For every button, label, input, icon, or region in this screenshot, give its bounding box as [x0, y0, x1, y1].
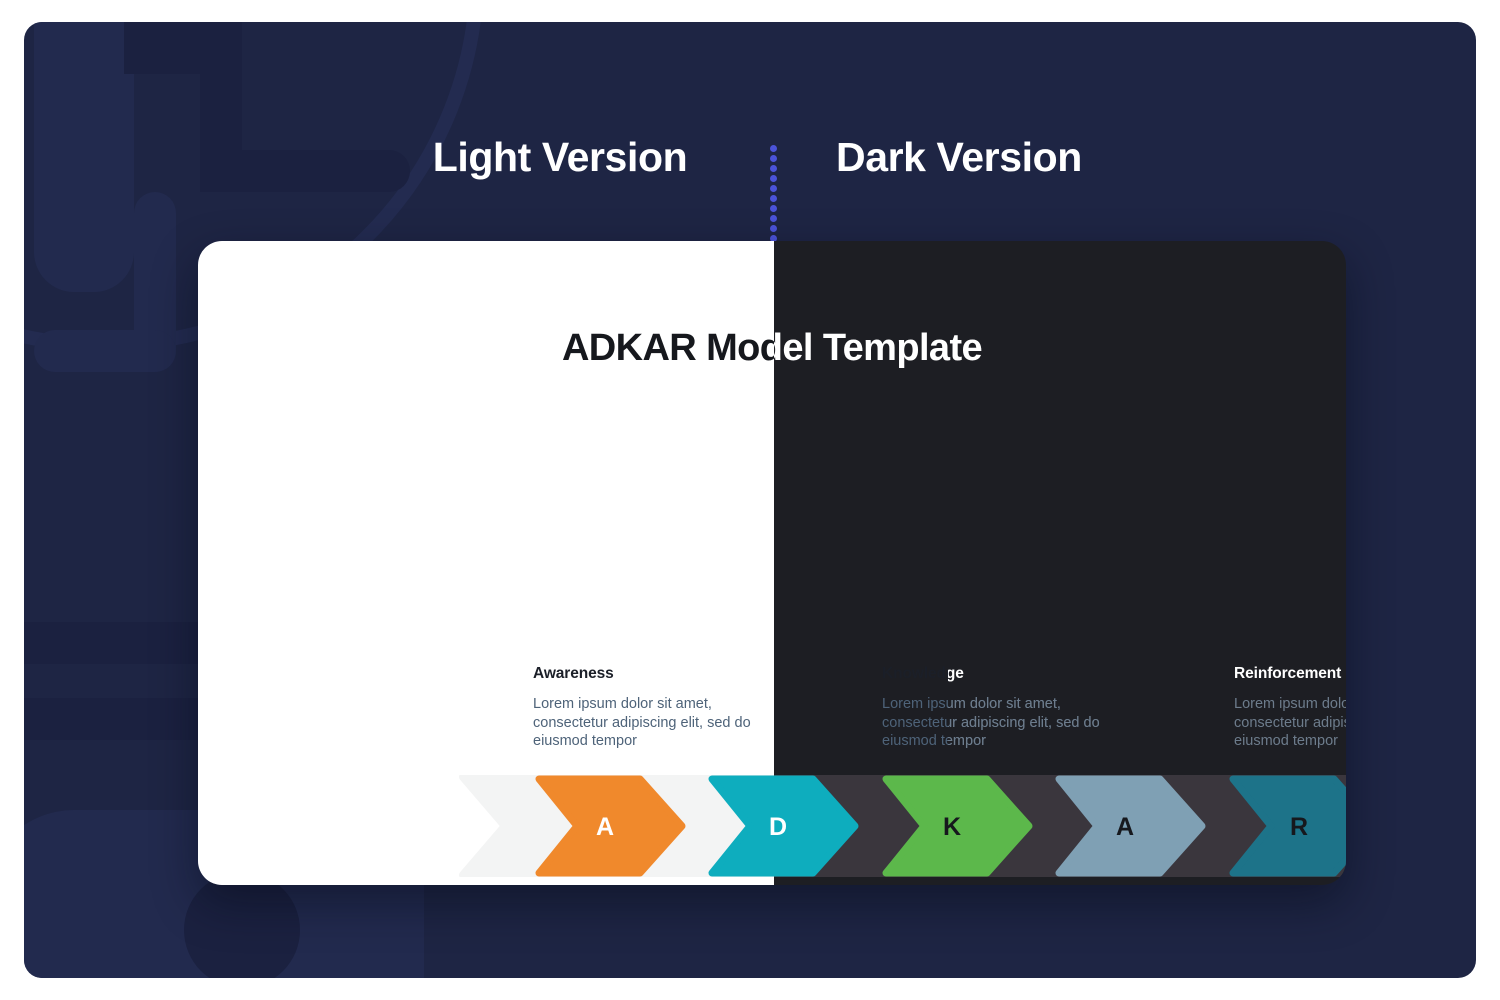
- stage-body-awareness: Lorem ipsum dolor sit amet, consectetur …: [533, 695, 763, 751]
- chevron-letter-awareness: A: [596, 813, 614, 841]
- page-title: ADKAR Model Template ADKAR Model Templat…: [198, 321, 1346, 375]
- light-version-label: Light Version: [404, 134, 716, 181]
- chevron-letter-desire: D: [769, 813, 787, 841]
- deco-circle-1: [184, 872, 300, 978]
- divider-dot: [770, 215, 777, 222]
- divider-dot: [770, 195, 777, 202]
- slide-card: ADKAR Model Template ADKAR Model Templat…: [198, 241, 1346, 885]
- deco-bar-5: [134, 192, 176, 372]
- dotted-divider: [770, 145, 778, 239]
- chevron-letter-reinforcement: R: [1290, 813, 1308, 841]
- chevron-letter-knowledge: K: [943, 813, 961, 841]
- background-stage: Light Version Dark Version ADKAR Model T…: [24, 22, 1476, 978]
- stage-label-reinforcement: Reinforcement Lorem ipsum dolor sit amet…: [1234, 665, 1346, 751]
- deco-bar-2: [124, 22, 242, 74]
- dark-version-label: Dark Version: [836, 134, 1082, 181]
- stage-label-awareness: Awareness Lorem ipsum dolor sit amet, co…: [533, 665, 763, 751]
- chevron-letter-action: A: [1116, 813, 1134, 841]
- stage-heading-awareness: Awareness: [533, 665, 763, 683]
- divider-dot: [770, 175, 777, 182]
- divider-dot: [770, 205, 777, 212]
- divider-dot: [770, 145, 777, 152]
- deco-bar-6: [34, 330, 176, 372]
- chevron-flow-svg: A D K A: [457, 775, 1346, 877]
- divider-dot: [770, 185, 777, 192]
- chevron-process-flow: A D K A: [457, 775, 1346, 877]
- stage-heading-reinforcement: Reinforcement: [1234, 665, 1346, 683]
- deco-bar-4: [200, 150, 410, 192]
- divider-dot: [770, 155, 777, 162]
- stage-body-reinforcement: Lorem ipsum dolor sit amet, consectetur …: [1234, 695, 1346, 751]
- divider-dot: [770, 165, 777, 172]
- deco-bar-1: [34, 22, 134, 292]
- deco-bar-3: [200, 22, 242, 192]
- divider-dot: [770, 225, 777, 232]
